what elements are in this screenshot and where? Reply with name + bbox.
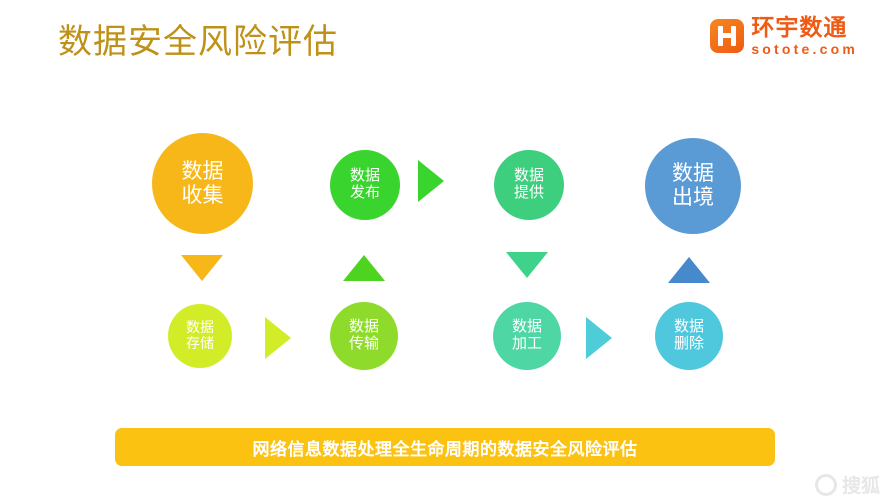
node-label-line2: 存储 (186, 336, 214, 352)
circle-watermark-icon (815, 474, 837, 496)
node-data-deletion[interactable]: 数据删除 (655, 302, 723, 370)
node-data-provision[interactable]: 数据提供 (494, 150, 564, 220)
arrow-right-triangle-icon (586, 317, 612, 359)
brand-logo: 环宇数通 sotote.com (710, 16, 858, 56)
brand-wordmark: 环宇数通 sotote.com (751, 16, 858, 56)
arrow-up-triangle-icon (668, 257, 710, 283)
arrow-down-triangle-icon (506, 252, 548, 278)
node-label-line1: 数据 (350, 168, 380, 185)
node-label-line2: 出境 (672, 186, 714, 210)
brand-name-cn: 环宇数通 (751, 16, 858, 39)
arrow-right-triangle-icon (418, 160, 444, 202)
arrow-down-triangle-icon (181, 255, 223, 281)
node-label-line2: 删除 (674, 336, 704, 353)
watermark-label: 搜狐 (842, 471, 880, 498)
watermark: 搜狐 (815, 471, 880, 498)
node-data-storage[interactable]: 数据存储 (168, 304, 232, 368)
node-label-line1: 数据 (186, 320, 214, 336)
brand-domain: sotote.com (751, 42, 858, 56)
node-data-collection[interactable]: 数据收集 (152, 133, 253, 234)
node-data-publishing[interactable]: 数据发布 (330, 150, 400, 220)
letter-h-logo-icon (710, 19, 744, 53)
page-title: 数据安全风险评估 (58, 14, 338, 63)
node-label-line1: 数据 (512, 319, 542, 336)
footer-banner: 网络信息数据处理全生命周期的数据安全风险评估 (115, 428, 775, 466)
node-data-processing[interactable]: 数据加工 (493, 302, 561, 370)
node-label-line2: 发布 (350, 185, 380, 202)
arrow-right-triangle-icon (265, 317, 291, 359)
node-label-line1: 数据 (349, 319, 379, 336)
node-label-line1: 数据 (514, 168, 544, 185)
node-label-line1: 数据 (672, 162, 714, 186)
node-label-line1: 数据 (674, 319, 704, 336)
node-data-export[interactable]: 数据出境 (645, 138, 741, 234)
node-label-line2: 传输 (349, 336, 379, 353)
slide-canvas: 数据安全风险评估 环宇数通 sotote.com 数据收集数据发布数据提供数据出… (0, 0, 888, 500)
arrow-up-triangle-icon (343, 255, 385, 281)
node-label-line2: 收集 (182, 184, 224, 208)
node-label-line1: 数据 (182, 160, 224, 184)
node-label-line2: 加工 (512, 336, 542, 353)
node-label-line2: 提供 (514, 185, 544, 202)
footer-banner-label: 网络信息数据处理全生命周期的数据安全风险评估 (253, 435, 638, 460)
node-data-transmission[interactable]: 数据传输 (330, 302, 398, 370)
